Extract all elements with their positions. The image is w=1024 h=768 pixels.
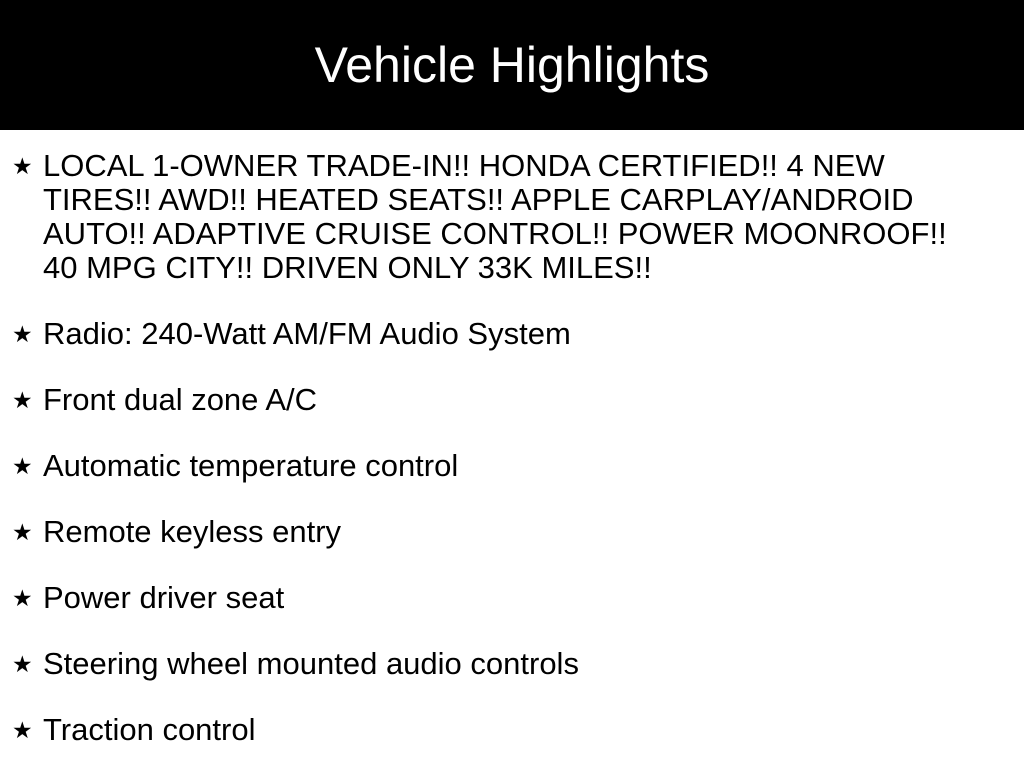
highlight-text: Power driver seat — [43, 581, 984, 615]
list-item: ★ Steering wheel mounted audio controls — [0, 647, 1024, 681]
star-icon: ★ — [12, 149, 34, 183]
highlight-text: Front dual zone A/C — [43, 383, 984, 417]
star-icon: ★ — [12, 449, 34, 483]
star-icon: ★ — [12, 383, 34, 417]
highlights-list: ★ LOCAL 1-OWNER TRADE-IN!! HONDA CERTIFI… — [0, 130, 1024, 768]
page-title: Vehicle Highlights — [315, 37, 710, 93]
header-banner: Vehicle Highlights — [0, 0, 1024, 130]
list-item: ★ Power driver seat — [0, 581, 1024, 615]
highlight-text: Remote keyless entry — [43, 515, 984, 549]
highlight-text: Steering wheel mounted audio controls — [43, 647, 984, 681]
highlight-text: LOCAL 1-OWNER TRADE-IN!! HONDA CERTIFIED… — [43, 149, 984, 285]
list-item: ★ Traction control — [0, 713, 1024, 747]
star-icon: ★ — [12, 581, 34, 615]
highlight-text: Automatic temperature control — [43, 449, 984, 483]
list-item: ★ Remote keyless entry — [0, 515, 1024, 549]
star-icon: ★ — [12, 713, 34, 747]
star-icon: ★ — [12, 647, 34, 681]
star-icon: ★ — [12, 317, 34, 351]
highlight-text: Radio: 240-Watt AM/FM Audio System — [43, 317, 984, 351]
list-item: ★ Radio: 240-Watt AM/FM Audio System — [0, 317, 1024, 351]
list-item: ★ Automatic temperature control — [0, 449, 1024, 483]
vehicle-highlights-page: Vehicle Highlights ★ LOCAL 1-OWNER TRADE… — [0, 0, 1024, 768]
star-icon: ★ — [12, 515, 34, 549]
list-item: ★ Front dual zone A/C — [0, 383, 1024, 417]
list-item: ★ LOCAL 1-OWNER TRADE-IN!! HONDA CERTIFI… — [0, 149, 1024, 285]
highlight-text: Traction control — [43, 713, 984, 747]
